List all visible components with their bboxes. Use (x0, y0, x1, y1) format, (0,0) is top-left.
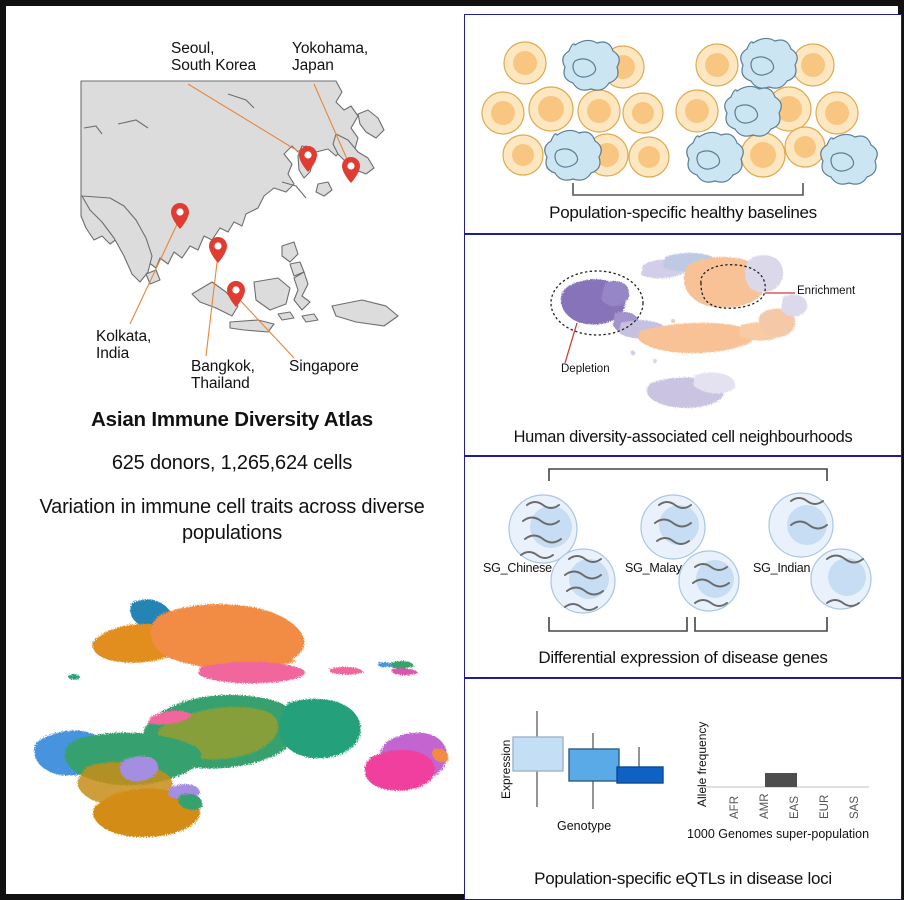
map-label-yokohama: Yokohama, Japan (292, 40, 368, 75)
atlas-stats: 625 donors, 1,265,624 cells (6, 452, 458, 475)
map-label-kolkata: Kolkata, India (96, 328, 151, 363)
panel-3-caption: Differential expression of disease genes (465, 648, 901, 668)
panel-2-graphic (465, 235, 901, 455)
left-column: Seoul, South Korea Yokohama, Japan Kolka… (6, 6, 458, 894)
atlas-text-block: Asian Immune Diversity Atlas 625 donors,… (6, 408, 458, 546)
panel-eqtls: Expression Genotype Allele frequency AFR… (464, 678, 902, 900)
bar-tick-eas: EAS (789, 796, 801, 819)
page-title: Asian Immune Diversity Atlas (6, 408, 458, 432)
map-label-singapore: Singapore (289, 358, 359, 375)
boxplot-x-axis-label: Genotype (557, 819, 611, 833)
bar-tick-eur: EUR (819, 795, 831, 819)
panel-differential-expression: SG_Chinese SG_Malay SG_Indian Differenti… (464, 456, 902, 678)
barchart-y-axis-label: Allele frequency (695, 722, 709, 807)
population-label-sg-indian: SG_Indian (753, 561, 810, 575)
boxplot-y-axis-label: Expression (499, 740, 513, 799)
bar-tick-amr: AMR (759, 793, 771, 819)
figure-frame: Seoul, South Korea Yokohama, Japan Kolka… (0, 0, 904, 900)
population-label-sg-chinese: SG_Chinese (483, 561, 552, 575)
panel-2-caption: Human diversity-associated cell neighbou… (465, 428, 901, 447)
depletion-annotation: Depletion (561, 363, 610, 375)
immune-cell-umap (20, 571, 458, 896)
asia-map: Seoul, South Korea Yokohama, Japan Kolka… (6, 6, 458, 406)
panel-cell-neighbourhoods: Depletion Enrichment Human diversity-ass… (464, 234, 902, 456)
map-label-bangkok: Bangkok, Thailand (191, 358, 255, 393)
right-column: Population-specific healthy baselines (464, 12, 904, 900)
enrichment-annotation: Enrichment (797, 285, 855, 297)
atlas-description: Variation in immune cell traits across d… (6, 495, 458, 546)
population-label-sg-malay: SG_Malay (625, 561, 682, 575)
bar-tick-afr: AFR (729, 796, 741, 819)
panel-healthy-baselines: Population-specific healthy baselines (464, 14, 902, 234)
bar-tick-sas: SAS (849, 796, 861, 819)
barchart-x-axis-label: 1000 Genomes super-population (687, 827, 869, 841)
panel-4-caption: Population-specific eQTLs in disease loc… (465, 869, 901, 889)
map-label-seoul: Seoul, South Korea (171, 40, 256, 75)
panel-1-graphic (465, 15, 901, 233)
panel-1-caption: Population-specific healthy baselines (465, 203, 901, 223)
panel-4-graphic (465, 679, 901, 899)
